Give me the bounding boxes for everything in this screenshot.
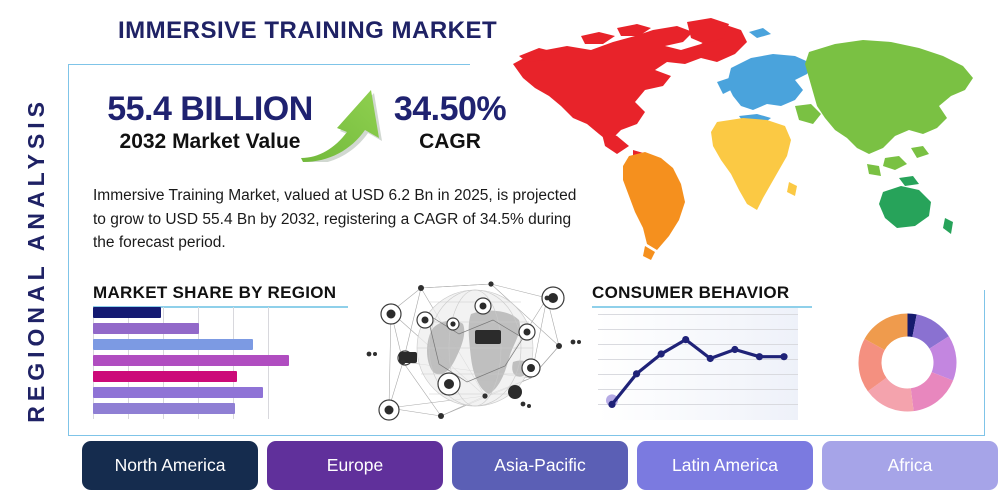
region-tab-europe[interactable]: Europe: [267, 441, 443, 490]
kpi-market-value-number: 55.4 BILLION: [95, 92, 325, 128]
bar-row: [93, 371, 237, 382]
line-chart-marker: [608, 401, 615, 408]
region-tab-africa[interactable]: Africa: [822, 441, 998, 490]
global-network-globe-icon: [363, 266, 588, 426]
kpi-cagr-label: CAGR: [385, 130, 515, 154]
bar-row: [93, 339, 253, 350]
vertical-section-label-text: REGIONAL ANALYSIS: [23, 97, 50, 423]
consumer-behavior-section-header: CONSUMER BEHAVIOR: [592, 283, 812, 308]
line-chart-marker: [682, 336, 689, 343]
line-chart-marker: [731, 346, 738, 353]
bar-row: [93, 307, 161, 318]
kpi-market-value-label: 2032 Market Value: [95, 130, 325, 154]
region-tab-north-america[interactable]: North America: [82, 441, 258, 490]
line-chart-marker: [756, 353, 763, 360]
region-tabs[interactable]: North AmericaEuropeAsia-PacificLatin Ame…: [82, 441, 998, 490]
bar-row: [93, 387, 263, 398]
region-tab-label: Africa: [888, 455, 933, 476]
up-arrow-icon: [295, 84, 385, 162]
region-tab-label: Europe: [327, 455, 383, 476]
market-share-section-header: MARKET SHARE BY REGION: [93, 283, 348, 308]
market-share-bar-chart: [93, 307, 293, 419]
kpi-cagr: 34.50% CAGR: [385, 92, 515, 154]
region-tab-label: Asia-Pacific: [494, 455, 585, 476]
donut-chart: [856, 311, 959, 414]
region-tab-label: Latin America: [672, 455, 778, 476]
consumer-behavior-line-chart: [598, 308, 798, 420]
region-tab-label: North America: [115, 455, 226, 476]
description-text: Immersive Training Market, valued at USD…: [93, 184, 593, 255]
line-chart-plot: [598, 308, 798, 420]
market-share-title: MARKET SHARE BY REGION: [93, 283, 348, 303]
bar-row: [93, 403, 235, 414]
kpi-cagr-number: 34.50%: [385, 92, 515, 128]
infographic-root: REGIONAL ANALYSIS IMMERSIVE TRAINING MAR…: [0, 0, 1000, 500]
line-chart-marker: [780, 353, 787, 360]
bar-row: [93, 323, 199, 334]
line-chart-marker: [658, 350, 665, 357]
line-chart-marker: [633, 370, 640, 377]
page-title: IMMERSIVE TRAINING MARKET: [118, 17, 497, 45]
kpi-market-value: 55.4 BILLION 2032 Market Value: [95, 92, 325, 154]
region-tab-latin-america[interactable]: Latin America: [637, 441, 813, 490]
line-chart-marker: [707, 355, 714, 362]
bar-row: [93, 355, 289, 366]
consumer-behavior-title: CONSUMER BEHAVIOR: [592, 283, 812, 303]
region-tab-asia-pacific[interactable]: Asia-Pacific: [452, 441, 628, 490]
vertical-section-label: REGIONAL ANALYSIS: [14, 60, 58, 460]
